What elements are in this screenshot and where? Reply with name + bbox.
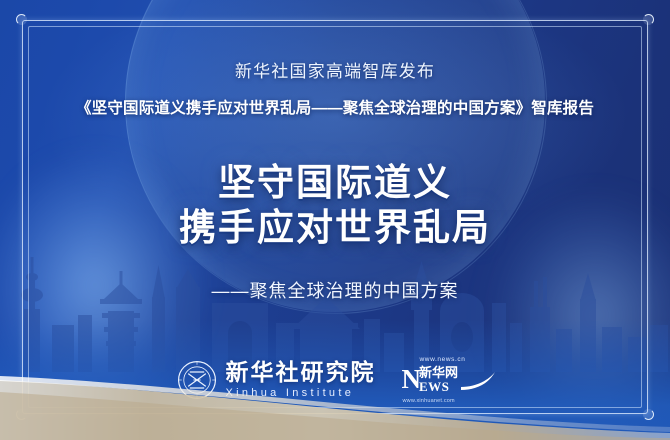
poster-canvas: 新华社国家高端智库发布 《坚守国际道义携手应对世界乱局——聚焦全球治理的中国方案… xyxy=(0,0,670,440)
tagline-text: ——聚焦全球治理的中国方案 xyxy=(0,277,670,303)
report-title-text: 《坚守国际道义携手应对世界乱局——聚焦全球治理的中国方案》智库报告 xyxy=(0,96,670,118)
main-title: 坚守国际道义 携手应对世界乱局 xyxy=(0,160,670,250)
title-line-1: 坚守国际道义 xyxy=(0,160,670,205)
title-line-2: 携手应对世界乱局 xyxy=(0,205,670,250)
bottom-ribbon-graphic xyxy=(0,362,670,440)
eyebrow-text: 新华社国家高端智库发布 xyxy=(0,57,670,82)
